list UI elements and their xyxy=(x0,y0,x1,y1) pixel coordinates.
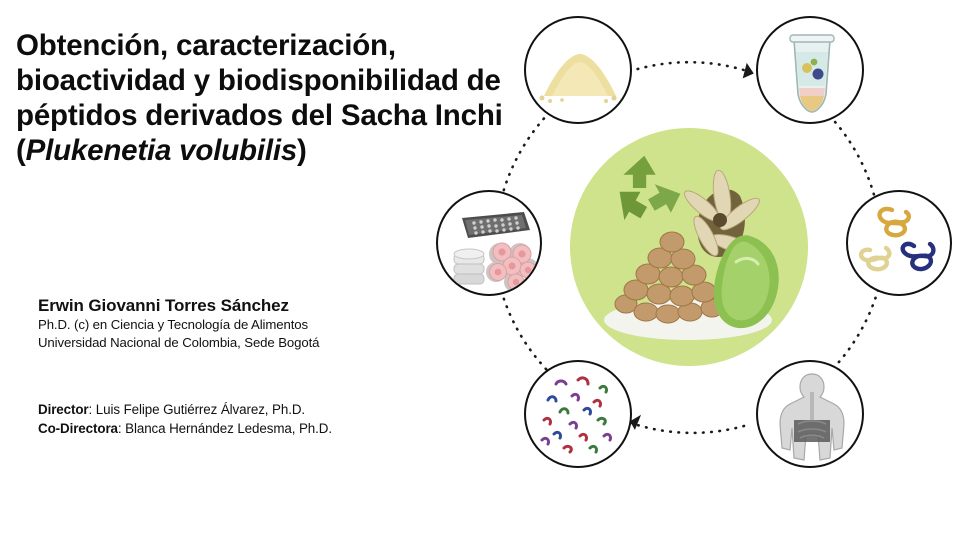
species-name: Plukenetia volubilis xyxy=(26,134,297,167)
recycle-icon xyxy=(620,156,681,221)
research-process-diagram xyxy=(432,2,960,482)
sacha-inchi-seeds-icon xyxy=(570,128,808,366)
peptide-fragments-icon xyxy=(526,362,632,468)
node-microplate-cell-culture[interactable] xyxy=(436,190,542,296)
node-protein-powder[interactable] xyxy=(524,16,632,124)
author-affiliation: Universidad Nacional de Colombia, Sede B… xyxy=(38,334,458,352)
author-name: Erwin Giovanni Torres Sánchez xyxy=(38,296,458,316)
node-peptide-fragments[interactable] xyxy=(524,360,632,468)
microplate xyxy=(462,212,530,238)
node-human-digestion[interactable] xyxy=(756,360,864,468)
protein-powder-icon xyxy=(526,18,632,124)
presentation-slide: Obtención, caracterización, bioactividad… xyxy=(0,0,960,540)
author-program: Ph.D. (c) en Ciencia y Tecnología de Ali… xyxy=(38,316,458,334)
node-peptide-chains[interactable] xyxy=(846,190,952,296)
footer-logos: Π☘ π∇ UNIVERSIDAD NACIONAL DE COLOMBIA xyxy=(0,468,960,540)
codirector-name: : Blanca Hernández Ledesma, Ph.D. xyxy=(118,421,332,436)
microplate-cell-culture-icon xyxy=(438,192,542,296)
peptide-chains-icon xyxy=(848,192,952,296)
center-sacha-inchi-circle xyxy=(570,128,808,366)
paren-open: ( xyxy=(16,134,26,167)
codirector-line: Co-Directora: Blanca Hernández Ledesma, … xyxy=(38,419,468,438)
author-block: Erwin Giovanni Torres Sánchez Ph.D. (c) … xyxy=(38,296,458,351)
microcentrifuge-tube-icon xyxy=(758,18,864,124)
director-name: : Luis Felipe Gutiérrez Álvarez, Ph.D. xyxy=(89,402,306,417)
node-microcentrifuge-tube[interactable] xyxy=(756,16,864,124)
advisor-block: Director: Luis Felipe Gutiérrez Álvarez,… xyxy=(38,400,468,438)
codirector-label: Co-Directora xyxy=(38,421,118,436)
petri-dishes xyxy=(454,249,484,284)
director-label: Director xyxy=(38,402,89,417)
director-line: Director: Luis Felipe Gutiérrez Álvarez,… xyxy=(38,400,468,419)
human-digestion-icon xyxy=(758,362,864,468)
paren-close: ) xyxy=(297,134,307,167)
